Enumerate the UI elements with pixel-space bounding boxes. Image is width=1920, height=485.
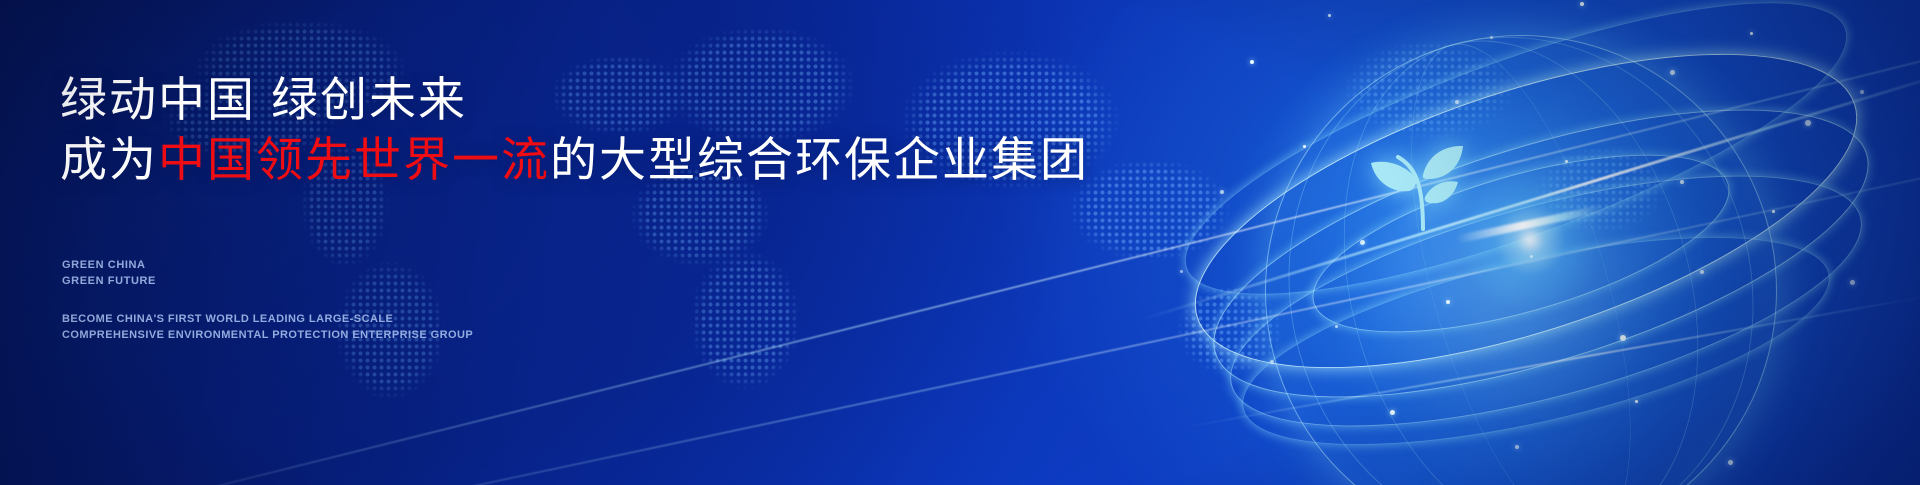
orbit-ring <box>1160 0 1893 433</box>
english-slogan: GREEN CHINA GREEN FUTURE <box>62 258 156 290</box>
globe-sphere-outline <box>1265 35 1777 485</box>
hero-banner: 绿动中国 绿创未来 成为中国领先世界一流的大型综合环保企业集团 GREEN CH… <box>0 0 1920 485</box>
headline-suffix: 的大型综合环保企业集团 <box>550 133 1089 186</box>
light-streak <box>1139 61 1920 321</box>
headline-highlight: 中国领先世界一流 <box>158 133 550 186</box>
globe-meridian <box>1229 0 1813 485</box>
orbit-ring <box>1183 50 1899 457</box>
english-subtitle: BECOME CHINA'S FIRST WORLD LEADING LARGE… <box>62 312 473 344</box>
orbit-ring <box>1156 0 1876 352</box>
english-subtitle-line-1: BECOME CHINA'S FIRST WORLD LEADING LARGE… <box>62 312 473 328</box>
english-subtitle-line-2: COMPREHENSIVE ENVIRONMENTAL PROTECTION E… <box>62 328 473 344</box>
english-slogan-line-1: GREEN CHINA <box>62 258 156 274</box>
sprout-leaf-icon <box>1365 125 1485 245</box>
headline-block: 绿动中国 绿创未来 成为中国领先世界一流的大型综合环保企业集团 <box>60 70 1060 189</box>
particle-field <box>1060 0 1920 485</box>
orbit-ring <box>1224 194 1847 485</box>
headline-line-2: 成为中国领先世界一流的大型综合环保企业集团 <box>60 130 1060 190</box>
globe-meridian <box>1288 0 1754 485</box>
headline-prefix: 成为 <box>60 133 158 186</box>
center-light-flare <box>1445 155 1615 325</box>
globe-glow <box>1210 0 1830 485</box>
wireframe-globe-graphic <box>1060 0 1920 485</box>
english-slogan-line-2: GREEN FUTURE <box>62 274 156 290</box>
headline-line-1: 绿动中国 绿创未来 <box>60 70 1060 130</box>
orbit-ring <box>1206 124 1885 478</box>
globe-meridian <box>1367 21 1675 485</box>
orbit-ring <box>1294 118 1747 369</box>
center-light-flare-bar <box>1456 204 1604 243</box>
light-streak <box>1186 294 1920 428</box>
